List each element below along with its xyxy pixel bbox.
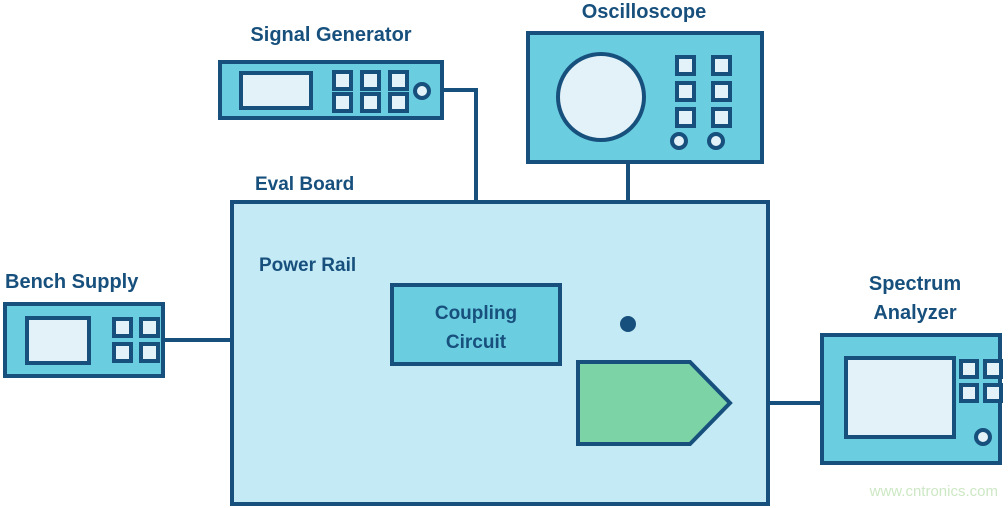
oscilloscope-button[interactable] [677, 83, 694, 100]
signal-generator-label: Signal Generator [250, 24, 411, 46]
oscilloscope-button[interactable] [713, 109, 730, 126]
signal-generator-button[interactable] [390, 72, 407, 89]
signal-generator-button[interactable] [362, 72, 379, 89]
oscilloscope-knob[interactable] [709, 134, 723, 148]
coupling-circuit-label-line1: Coupling [435, 303, 517, 324]
oscilloscope-button[interactable] [713, 57, 730, 74]
signal-junction-dot [620, 316, 636, 332]
signal-generator[interactable] [220, 62, 442, 118]
bench-supply-button[interactable] [141, 344, 158, 361]
signal-generator-button[interactable] [362, 94, 379, 111]
oscilloscope-knob[interactable] [672, 134, 686, 148]
bench-supply-button[interactable] [114, 344, 131, 361]
bench-supply-button[interactable] [114, 319, 131, 336]
spectrum-analyzer-button[interactable] [961, 361, 977, 377]
spectrum-analyzer-button[interactable] [985, 385, 1001, 401]
eval-board-label: Eval Board [255, 174, 354, 195]
signal-generator-button[interactable] [334, 72, 351, 89]
signal-generator-button[interactable] [334, 94, 351, 111]
spectrum-analyzer-button[interactable] [985, 361, 1001, 377]
diagram-canvas: Eval Board Power Rail Coupling Circuit S… [0, 0, 1008, 508]
bench-supply[interactable] [5, 304, 163, 376]
signal-generator-button[interactable] [390, 94, 407, 111]
spectrum-analyzer[interactable] [822, 335, 1001, 463]
spectrum-analyzer-screen [846, 358, 954, 437]
signal-generator-knob[interactable] [415, 84, 429, 98]
bench-supply-screen [27, 318, 89, 363]
oscilloscope[interactable] [528, 33, 762, 162]
oscilloscope-label: Oscilloscope [582, 1, 707, 23]
spectrum-analyzer-button[interactable] [961, 385, 977, 401]
oscilloscope-button[interactable] [713, 83, 730, 100]
bench-supply-button[interactable] [141, 319, 158, 336]
coupling-circuit-label-line2: Circuit [446, 332, 507, 353]
spectrum-analyzer-label-line2: Analyzer [873, 302, 957, 324]
watermark: www.cntronics.com [869, 483, 998, 500]
spectrum-analyzer-knob[interactable] [976, 430, 990, 444]
coupling-circuit[interactable]: Coupling Circuit [392, 285, 560, 364]
bench-supply-label: Bench Supply [5, 271, 139, 293]
oscilloscope-button[interactable] [677, 109, 694, 126]
power-rail-label: Power Rail [259, 255, 356, 276]
spectrum-analyzer-label-line1: Spectrum [869, 273, 961, 295]
block-diagram: Eval Board Power Rail Coupling Circuit S… [0, 0, 1008, 508]
signal-generator-screen [241, 73, 311, 108]
oscilloscope-button[interactable] [677, 57, 694, 74]
oscilloscope-screen [558, 54, 644, 140]
